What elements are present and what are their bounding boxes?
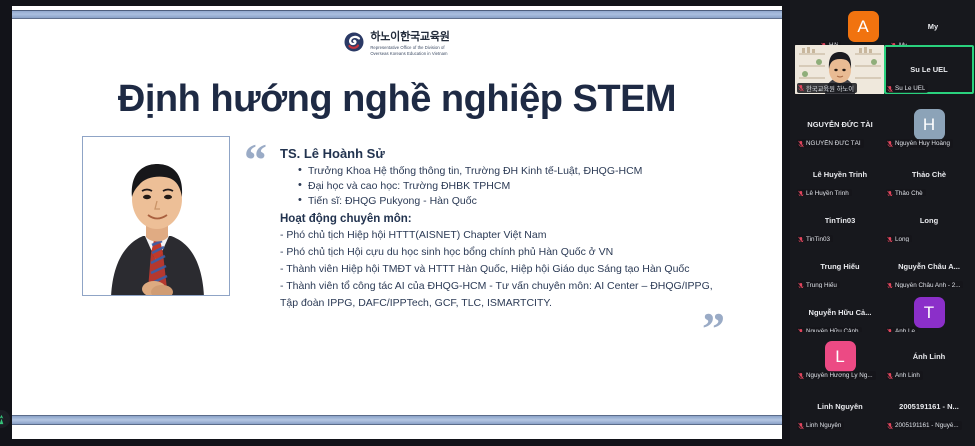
participant-display-name: Trung Hiếu	[820, 262, 859, 272]
list-item: - Phó chủ tịch Hội cựu du học sinh học b…	[280, 244, 720, 261]
logo-english-line-1: Representative Office of the Division of	[370, 46, 449, 50]
list-item: - Phó chủ tịch Hiệp hội HTTT(AISNET) Cha…	[280, 227, 720, 244]
participant-name-badge: Linh Nguyên	[797, 421, 844, 430]
participant-display-name: TinTin03	[825, 216, 856, 226]
participant-tile[interactable]: NGUYỄN ĐỨC TÀINGUYỄN ĐỨC TÀI	[795, 100, 885, 149]
participant-name-badge: NGUYỄN ĐỨC TÀI	[797, 139, 864, 148]
mic-muted-icon	[798, 422, 804, 430]
participant-tile[interactable]: 2005191161 - N...2005191161 - Nguyễ...	[884, 382, 974, 431]
participant-name-badge: 한국교육원 하노이	[797, 83, 857, 93]
slide-top-accent-bar	[12, 10, 782, 19]
participant-display-name: 2005191161 - N...	[899, 402, 959, 412]
slide-bottom-accent-bar	[12, 415, 782, 425]
participant-tile[interactable]: Trung HiếuTrung Hiếu	[795, 242, 885, 291]
participant-tile[interactable]: Su Le UELSu Le UEL	[884, 45, 974, 94]
meeting-app-window: 하노이한국교육원 Representative Office of the Di…	[0, 0, 975, 446]
presentation-slide: 하노이한국교육원 Representative Office of the Di…	[12, 6, 782, 439]
participant-tile[interactable]: Nguyễn Hữu Cả...Nguyễn Hữu Cảnh	[795, 288, 885, 337]
mic-muted-icon	[887, 372, 893, 380]
screen-share-indicator-icon	[0, 410, 10, 428]
participant-name-badge: Nguyễn Huy Hoàng	[886, 139, 953, 148]
participant-tile[interactable]: Thảo ChèThảo Chè	[884, 150, 974, 199]
mic-muted-icon	[798, 84, 804, 92]
speaker-portrait-photo	[83, 137, 230, 296]
avatar: L	[825, 341, 856, 372]
list-item: - Thành viên Hiệp hội TMĐT và HTTT Hàn Q…	[280, 261, 720, 278]
logo-english-line-2: Overseas Koreans Education in Vietnam	[370, 52, 449, 56]
avatar: T	[914, 297, 945, 328]
speaker-bio-block: TS. Lê Hoành Sử Trưởng Khoa Hệ thống thô…	[280, 146, 720, 312]
participant-name-badge: Ánh Linh	[886, 371, 923, 380]
participant-badge-name: Ánh Linh	[895, 372, 920, 379]
participant-tile[interactable]: 한국교육원 하노이	[795, 45, 885, 94]
participant-display-name: Linh Nguyên	[817, 402, 862, 412]
list-item: - Thành viên tổ công tác AI của ĐHQG-HCM…	[280, 278, 720, 295]
participant-tile[interactable]: Linh NguyênLinh Nguyên	[795, 382, 885, 431]
quote-open-icon: “	[244, 137, 267, 183]
activities-list: - Phó chủ tịch Hiệp hội HTTT(AISNET) Cha…	[280, 227, 720, 312]
participant-tile[interactable]: TAnh Le	[884, 288, 974, 337]
participant-name-badge: Su Le UEL	[886, 84, 928, 93]
logo-korean-name: 하노이한국교육원	[370, 31, 449, 43]
avatar: A	[848, 11, 879, 42]
participant-badge-name: Su Le UEL	[895, 85, 925, 92]
list-item: Đại học và cao học: Trường ĐHBK TPHCM	[298, 179, 720, 194]
participant-display-name: Thảo Chè	[912, 170, 946, 180]
mic-muted-icon	[887, 422, 893, 430]
participant-tile[interactable]: Nguyễn Châu A...Nguyễn Châu Anh - 2...	[884, 242, 974, 291]
list-item: Trưởng Khoa Hệ thống thông tin, Trường Đ…	[298, 164, 720, 179]
organization-logo: 하노이한국교육원 Representative Office of the Di…	[12, 28, 782, 57]
participant-name-badge: Nguyễn Hương Ly Ng...	[797, 371, 876, 380]
speaker-name: TS. Lê Hoành Sử	[280, 146, 720, 161]
mic-muted-icon	[798, 140, 804, 148]
logo-text-block: 하노이한국교육원 Representative Office of the Di…	[370, 28, 449, 57]
participant-tile[interactable]: MyMy	[888, 2, 975, 51]
participant-display-name: Ánh Linh	[913, 352, 946, 362]
participant-display-name: Nguyễn Châu A...	[898, 262, 960, 272]
speaker-credentials-list: Trưởng Khoa Hệ thống thông tin, Trường Đ…	[298, 164, 720, 209]
participant-display-name: Nguyễn Hữu Cả...	[809, 308, 872, 318]
participant-tile[interactable]: TinTin03TinTin03	[795, 196, 885, 245]
participant-tile[interactable]: HNguyễn Huy Hoàng	[884, 100, 974, 149]
korea-government-symbol-icon	[344, 32, 364, 52]
speaker-portrait-frame	[82, 136, 230, 296]
participant-display-name: Su Le UEL	[910, 65, 948, 75]
participant-tile[interactable]: LNguyễn Hương Ly Ng...	[795, 332, 885, 381]
slide-title: Định hướng nghề nghiệp STEM	[12, 78, 782, 121]
list-item: Tập đoàn IPPG, DAFC/IPPTech, GCF, TLC, I…	[280, 295, 720, 312]
participant-tile[interactable]: LongLong	[884, 196, 974, 245]
screen-share-stage: 하노이한국교육원 Representative Office of the Di…	[0, 0, 790, 446]
activities-heading: Hoạt động chuyên môn:	[280, 213, 720, 225]
participant-tile[interactable]: Ánh LinhÁnh Linh	[884, 332, 974, 381]
mic-muted-icon	[798, 372, 804, 380]
participant-display-name: Lê Huyền Trinh	[813, 170, 867, 180]
participant-panel[interactable]: AHảiMyMy한국교육원 하노이Su Le UELSu Le UELNGUYỄ…	[790, 0, 975, 446]
participant-display-name: My	[928, 22, 938, 32]
mic-muted-icon	[887, 85, 893, 93]
participant-name-badge: 2005191161 - Nguyễ...	[886, 421, 962, 430]
participant-display-name: NGUYỄN ĐỨC TÀI	[807, 120, 872, 130]
participant-display-name: Long	[920, 216, 938, 226]
participant-badge-name: 한국교육원 하노이	[806, 84, 854, 93]
quote-close-icon: ”	[702, 306, 725, 352]
participant-badge-name: Linh Nguyên	[806, 422, 841, 429]
participant-badge-name: Nguyễn Hương Ly Ng...	[806, 372, 873, 379]
participant-tile[interactable]: Lê Huyền TrinhLê Huyền Trinh	[795, 150, 885, 199]
avatar: H	[914, 109, 945, 140]
participant-badge-name: Nguyễn Huy Hoàng	[895, 140, 950, 147]
participant-badge-name: 2005191161 - Nguyễ...	[895, 422, 959, 429]
participant-badge-name: NGUYỄN ĐỨC TÀI	[806, 140, 861, 147]
mic-muted-icon	[887, 140, 893, 148]
list-item: Tiến sĩ: ĐHQG Pukyong - Hàn Quốc	[298, 194, 720, 209]
